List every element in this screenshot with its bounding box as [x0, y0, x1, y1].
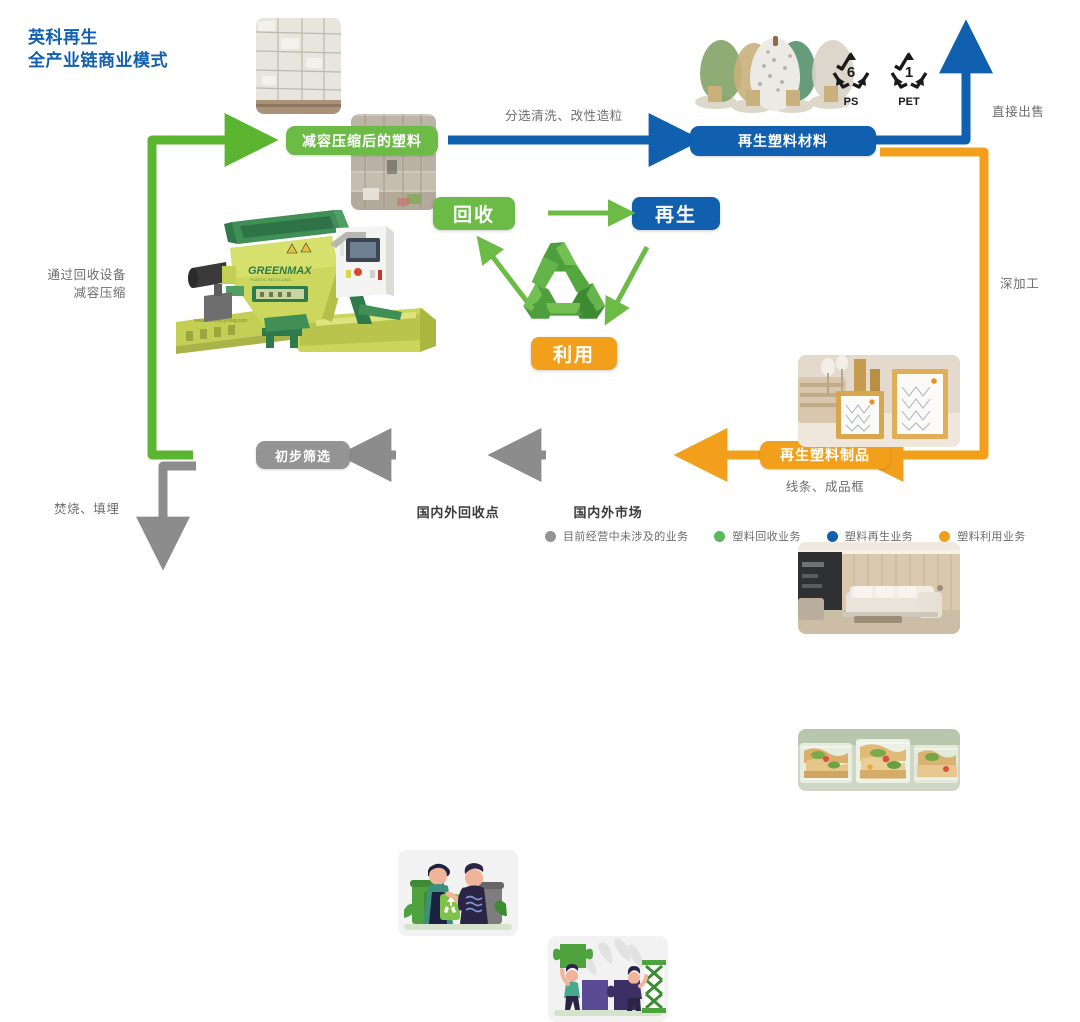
recycling-symbol-icon: 1	[886, 48, 932, 94]
legend-dot-blue	[827, 531, 838, 542]
plastic-bale-photo-1	[256, 18, 341, 114]
resin-code-ps: 6 PS	[828, 48, 874, 110]
diagram-canvas: 英科再生 全产业链商业模式	[0, 0, 1080, 574]
legend-dot-green	[714, 531, 725, 542]
node-recycled-material[interactable]: 再生塑料材料	[690, 126, 876, 156]
node-compressed-plastic[interactable]: 减容压缩后的塑料	[286, 126, 438, 155]
label-via-equipment-line2: 减容压缩	[18, 284, 126, 302]
label-via-recycling-equipment: 通过回收设备 减容压缩	[18, 266, 126, 302]
resin-code-label: PS	[828, 96, 874, 108]
label-direct-sale: 直接出售	[992, 103, 1044, 121]
legend-dot-orange	[939, 531, 950, 542]
food-containers-photo	[798, 729, 960, 791]
resin-code-number: 6	[847, 64, 855, 81]
label-products-caption: 线条、成品框	[760, 478, 890, 496]
illustration-domestic-overseas-markets	[548, 936, 668, 1022]
legend-label-utilization-business: 塑料利用业务	[957, 528, 1025, 544]
illustration-domestic-overseas-recycling-points	[398, 850, 518, 936]
legend-label-not-covered: 目前经营中未涉及的业务	[563, 528, 688, 544]
resin-code-pet: 1 PET	[886, 48, 932, 110]
living-room-sofa-photo	[798, 542, 960, 634]
label-deep-processing: 深加工	[1000, 275, 1039, 293]
label-via-equipment-line1: 通过回收设备	[18, 266, 126, 284]
legend-dot-gray	[545, 531, 556, 542]
legend-item-not-covered: 目前经营中未涉及的业务	[545, 528, 688, 544]
legend-item-regeneration-business: 塑料再生业务	[827, 528, 913, 544]
machine-brand-sub-text: PLASTIC RECYCLING	[250, 277, 291, 282]
label-incineration-landfill: 焚烧、填埋	[54, 500, 120, 518]
node-initial-sorting[interactable]: 初步筛选	[256, 441, 350, 469]
label-sorting-washing: 分选清洗、改性造粒	[505, 107, 623, 125]
caption-domestic-overseas-recycling-points: 国内外回收点	[398, 502, 518, 521]
legend-item-utilization-business: 塑料利用业务	[939, 528, 1025, 544]
legend: 目前经营中未涉及的业务 塑料回收业务 塑料再生业务 塑料利用业务	[545, 528, 1026, 544]
resin-code-number: 1	[905, 64, 913, 81]
machine-brand-text: GREENMAX	[248, 265, 312, 277]
resin-code-label: PET	[886, 96, 932, 108]
recycling-symbol-icon: 6	[828, 48, 874, 94]
legend-label-recycling-business: 塑料回收业务	[732, 528, 800, 544]
legend-item-recycling-business: 塑料回收业务	[714, 528, 800, 544]
cycle-arrow-right	[612, 247, 647, 312]
greenmax-compactor-machine: www.intcorecycling.com GREENMAX PLASTIC …	[170, 200, 450, 370]
cycle-arrows-and-symbol	[420, 185, 740, 385]
legend-label-regeneration-business: 塑料再生业务	[845, 528, 913, 544]
caption-domestic-overseas-markets: 国内外市场	[548, 502, 668, 521]
gray-disposal-flow-arrow	[163, 466, 196, 540]
picture-frames-photo	[798, 355, 960, 447]
recycling-mobius-icon	[523, 242, 605, 319]
